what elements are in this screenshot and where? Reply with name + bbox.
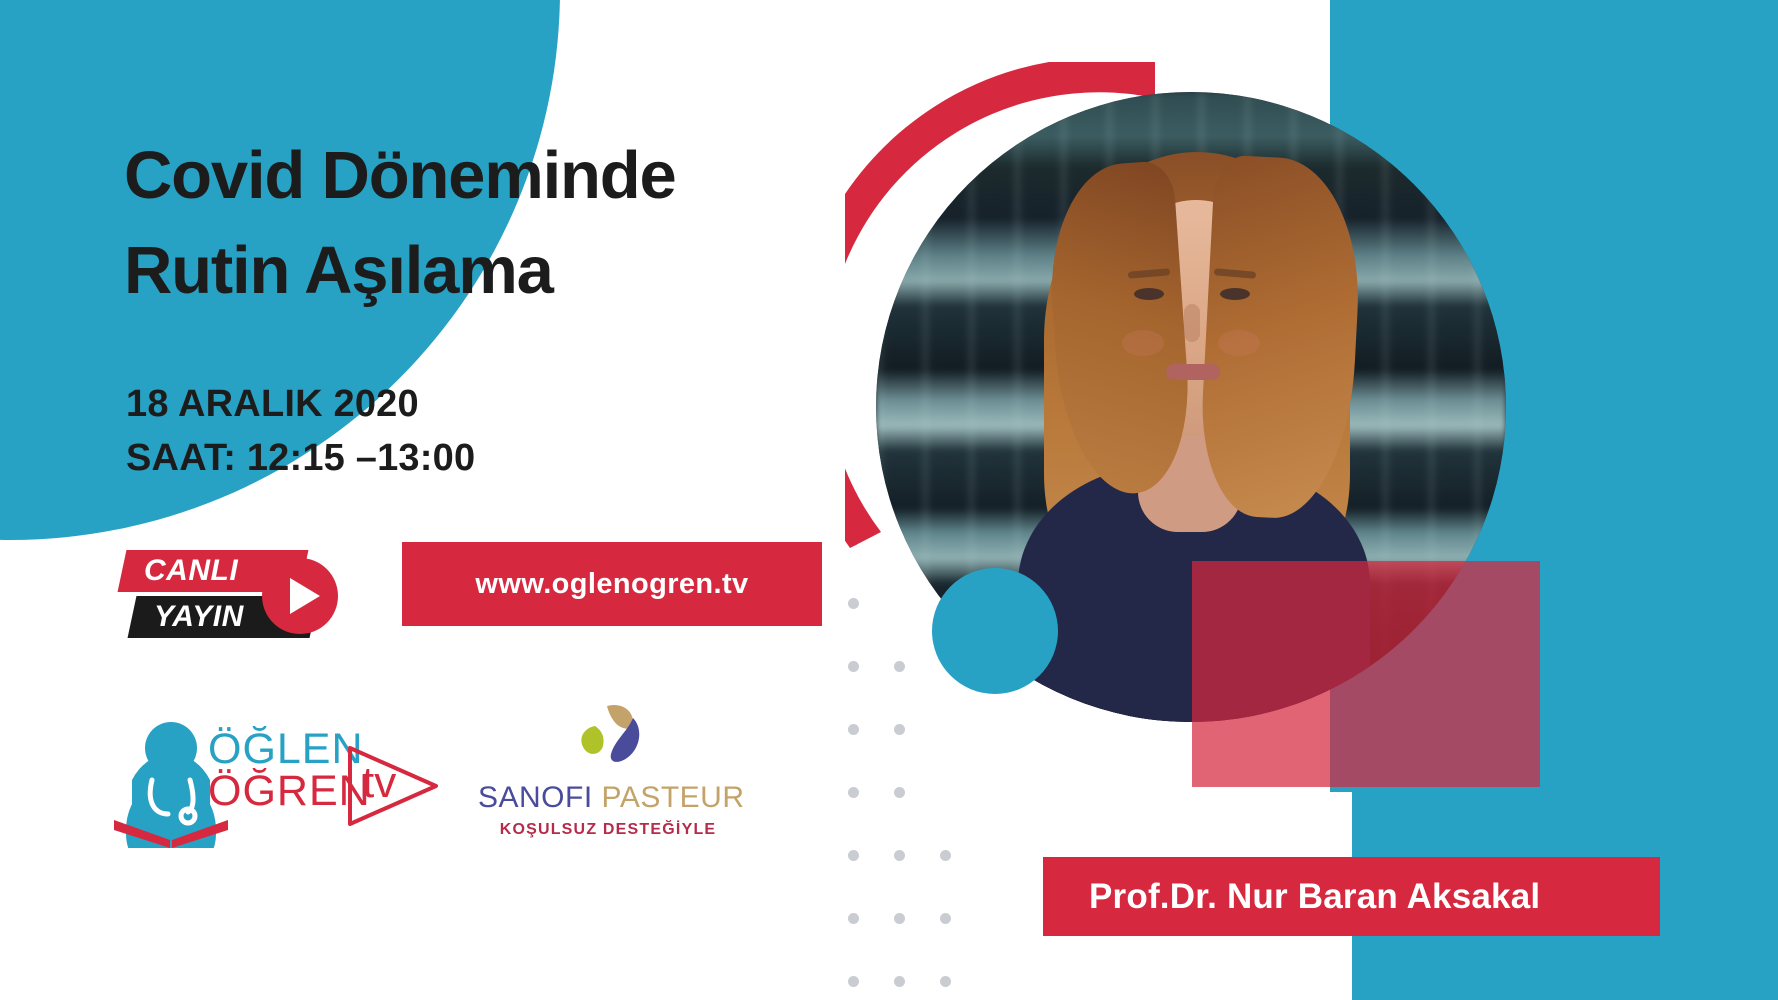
website-url-text: www.oglenogren.tv: [475, 568, 748, 601]
pasteur-word: PASTEUR: [602, 781, 745, 814]
live-badge-line-2: YAYIN: [154, 600, 244, 634]
oglen-ogren-tv-logo: ÖĞLEN ÖĞREN tv: [112, 712, 442, 852]
sanofi-bird-icon: [571, 702, 645, 772]
page-title: Covid Döneminde Rutin Aşılama: [124, 142, 676, 304]
tv-play-mark: tv: [342, 738, 444, 834]
live-badge-line-1: CANLI: [144, 554, 238, 588]
tv-label: tv: [362, 758, 396, 808]
promo-poster: Covid Döneminde Rutin Aşılama 18 ARALIK …: [0, 0, 1778, 1000]
event-time: SAAT: 12:15 –13:00: [126, 432, 475, 486]
play-icon[interactable]: [262, 558, 338, 634]
headline-line-1: Covid Döneminde: [124, 142, 676, 209]
website-url-banner[interactable]: www.oglenogren.tv: [402, 542, 822, 626]
sanofi-word: SANOFI: [478, 781, 593, 814]
live-broadcast-badge[interactable]: CANLI YAYIN: [118, 546, 338, 644]
teal-accent-circle: [932, 568, 1058, 694]
sanofi-wordmark: SANOFI PASTEUR: [478, 781, 738, 815]
speaker-name-banner: Prof.Dr. Nur Baran Aksakal: [1043, 857, 1660, 936]
event-meta: 18 ARALIK 2020 SAAT: 12:15 –13:00: [126, 378, 475, 486]
event-date: 18 ARALIK 2020: [126, 378, 475, 432]
headline-line-2: Rutin Aşılama: [124, 237, 676, 304]
speaker-name: Prof.Dr. Nur Baran Aksakal: [1089, 877, 1540, 917]
red-overlay-block: [1192, 561, 1540, 787]
sanofi-tagline: KOŞULSUZ DESTEĞİYLE: [478, 821, 738, 839]
sanofi-pasteur-logo: SANOFI PASTEUR KOŞULSUZ DESTEĞİYLE: [478, 702, 738, 852]
